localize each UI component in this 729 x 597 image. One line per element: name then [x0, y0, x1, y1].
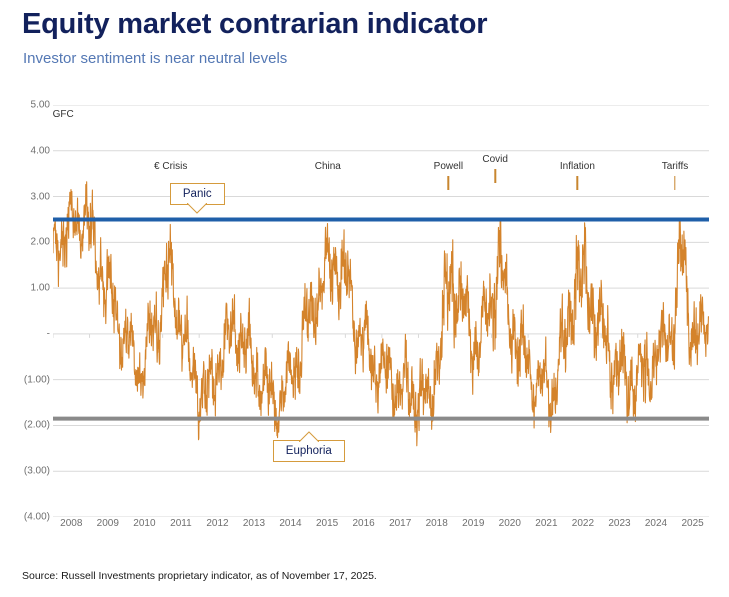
contrarian-indicator-plot	[53, 105, 709, 517]
y-axis: 5.004.003.002.001.00-(1.00)(2.00)(3.00)(…	[0, 105, 50, 517]
x-axis: 2008200920102011201220132014201520162017…	[53, 518, 709, 538]
x-axis-label: 2015	[316, 518, 338, 529]
chart-container: 5.004.003.002.001.00-(1.00)(2.00)(3.00)(…	[0, 88, 729, 540]
event-annotation: Inflation	[560, 161, 595, 172]
x-axis-label: 2009	[97, 518, 119, 529]
x-axis-label: 2025	[681, 518, 703, 529]
y-axis-label: (4.00)	[4, 512, 50, 523]
x-axis-label: 2008	[60, 518, 82, 529]
x-axis-label: 2022	[572, 518, 594, 529]
y-axis-label: 1.00	[4, 283, 50, 294]
y-axis-label: 3.00	[4, 191, 50, 202]
page-title: Equity market contrarian indicator	[22, 8, 487, 41]
x-axis-label: 2017	[389, 518, 411, 529]
x-axis-label: 2021	[535, 518, 557, 529]
event-annotation: Powell	[434, 161, 463, 172]
y-axis-label: (2.00)	[4, 420, 50, 431]
chart-page: Equity market contrarian indicator Inves…	[0, 0, 729, 597]
x-axis-label: 2011	[170, 518, 192, 529]
callout-panic: Panic	[170, 183, 225, 205]
callout-label: Panic	[183, 188, 212, 200]
event-annotation: Covid	[482, 154, 508, 165]
event-annotation: China	[315, 161, 341, 172]
x-axis-label: 2023	[608, 518, 630, 529]
x-axis-label: 2018	[426, 518, 448, 529]
callout-euphoria: Euphoria	[273, 440, 345, 462]
x-axis-label: 2019	[462, 518, 484, 529]
y-axis-label: 5.00	[4, 100, 50, 111]
event-annotation-tick	[494, 169, 495, 183]
x-axis-label: 2024	[645, 518, 667, 529]
event-annotation-tick	[448, 176, 449, 190]
y-axis-label: (3.00)	[4, 466, 50, 477]
y-axis-label: -	[4, 328, 50, 339]
x-axis-label: 2013	[243, 518, 265, 529]
callout-tail-down	[187, 203, 207, 214]
y-axis-label: 4.00	[4, 145, 50, 156]
x-axis-label: 2012	[206, 518, 228, 529]
event-annotation-tick	[674, 176, 675, 190]
y-axis-label: 2.00	[4, 237, 50, 248]
callout-tail-up	[299, 431, 319, 442]
x-axis-label: 2014	[279, 518, 301, 529]
x-axis-label: 2020	[499, 518, 521, 529]
event-annotation: GFC	[53, 109, 74, 120]
x-axis-label: 2010	[133, 518, 155, 529]
event-annotation: Tariffs	[662, 161, 689, 172]
y-axis-label: (1.00)	[4, 374, 50, 385]
plot-area	[53, 105, 709, 517]
callout-label: Euphoria	[286, 445, 332, 457]
x-axis-label: 2016	[352, 518, 374, 529]
event-annotation: € Crisis	[154, 161, 187, 172]
event-annotation-tick	[577, 176, 578, 190]
source-note: Source: Russell Investments proprietary …	[22, 570, 377, 582]
page-subtitle: Investor sentiment is near neutral level…	[23, 50, 287, 67]
